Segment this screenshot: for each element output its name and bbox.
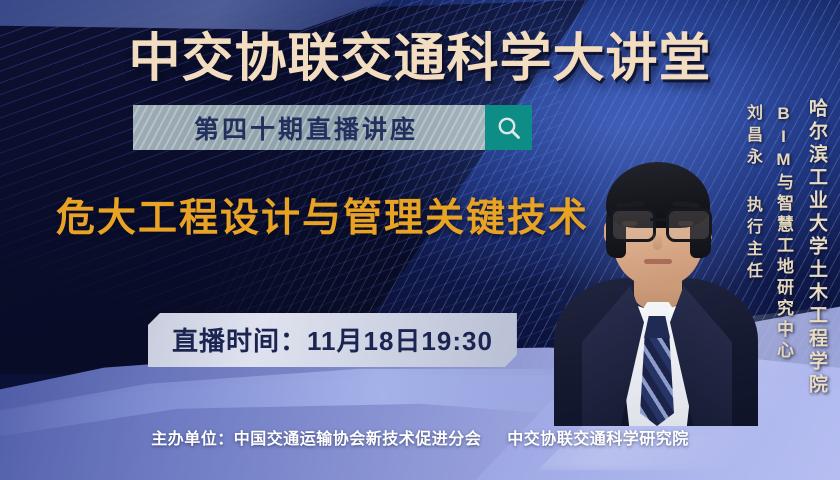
portrait-nose: [653, 232, 662, 250]
live-time-badge: 直播时间：11月18日19:30: [148, 313, 517, 367]
portrait-mouth: [644, 259, 672, 264]
footer-prefix: 主办单位：: [151, 431, 234, 448]
speaker-role: 执行主任: [740, 196, 764, 284]
portrait-tie: [640, 334, 674, 426]
glasses-lens-left: [610, 208, 656, 242]
footer-organizers: 主办单位：中国交通运输协会新技术促进分会中交协联交通科学研究院: [0, 425, 840, 449]
search-button[interactable]: [485, 105, 532, 150]
episode-banner: 第四十期直播讲座: [133, 105, 485, 150]
speaker-name: 刘昌永: [740, 104, 764, 170]
page-title: 中交协联交通科学大讲堂: [0, 16, 840, 91]
lecture-title: 危大工程设计与管理关键技术: [56, 187, 589, 243]
speaker-organization: 哈尔滨工业大学土木工程学院: [803, 98, 830, 397]
footer-org-2: 中交协联交通科学研究院: [507, 431, 689, 448]
speaker-research-center: BIM与智慧工地研究中心: [771, 104, 796, 362]
lecture-poster: 中交协联交通科学大讲堂 第四十期直播讲座 危大工程设计与管理关键技术 直播时间：…: [0, 0, 840, 480]
glasses-bridge: [650, 218, 666, 221]
episode-label: 第四十期直播讲座: [133, 110, 485, 146]
speaker-portrait: [556, 96, 756, 426]
search-icon: [496, 115, 522, 141]
footer-org-1: 中国交通运输协会新技术促进分会: [234, 431, 482, 448]
glasses-lens-right: [666, 208, 712, 242]
